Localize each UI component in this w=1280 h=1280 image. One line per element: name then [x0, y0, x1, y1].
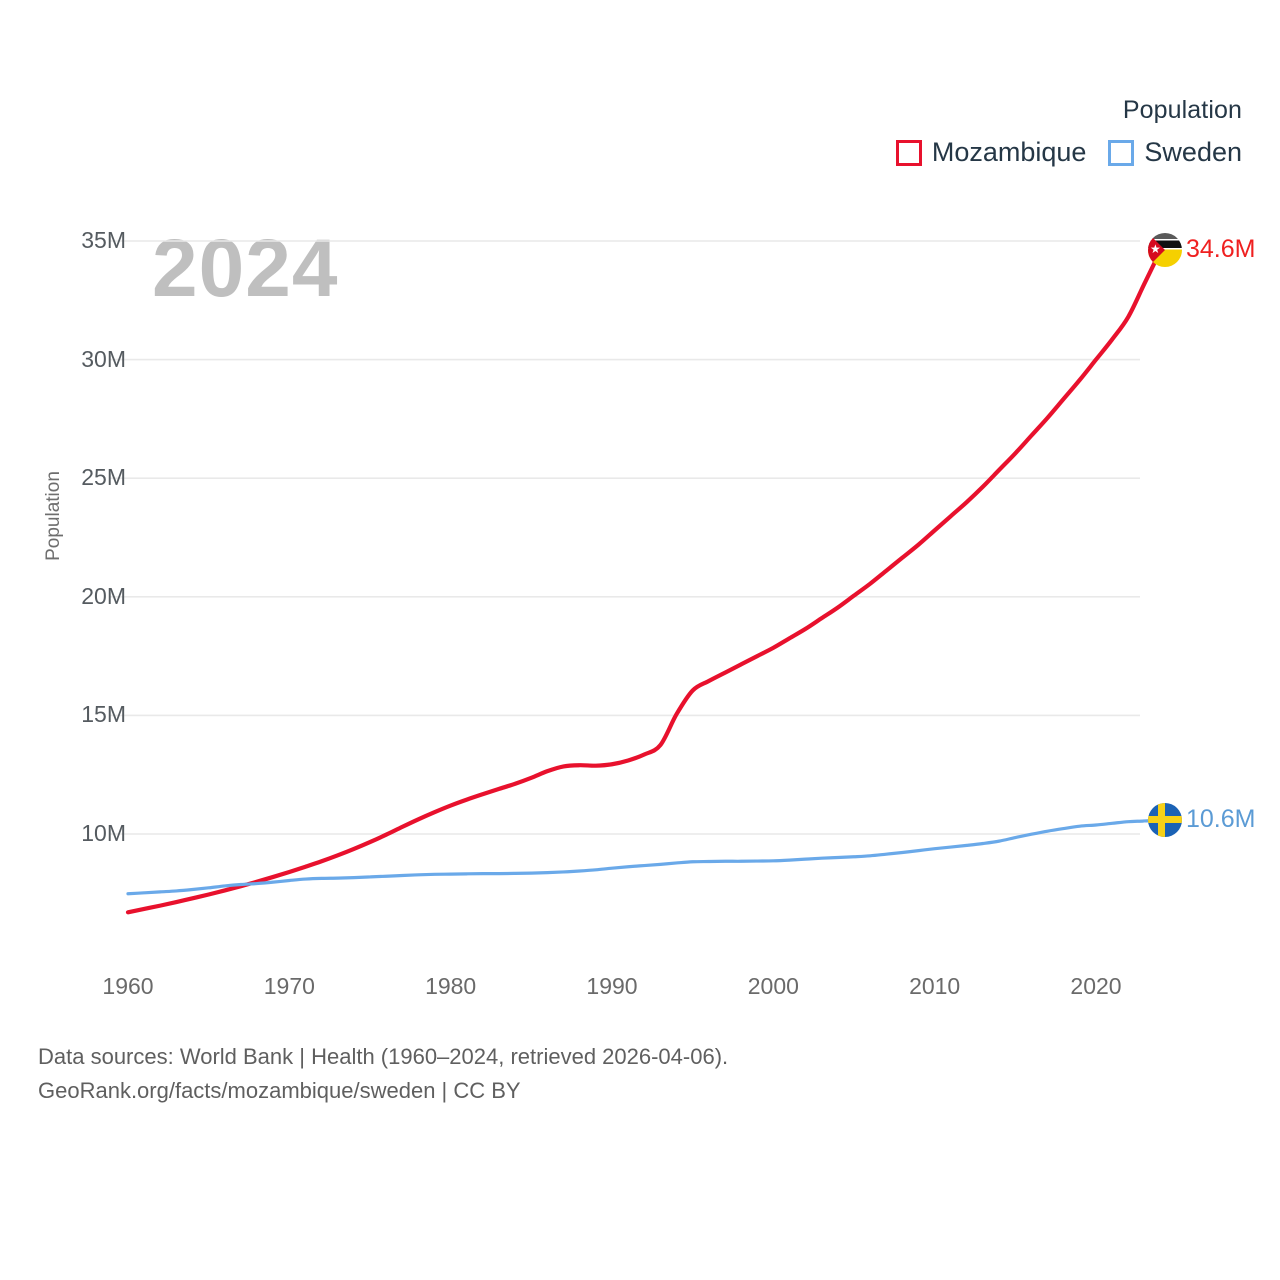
y-axis-tick-label: 30M: [36, 348, 126, 371]
x-axis-tick-label: 2000: [713, 975, 833, 998]
footer-attribution: Data sources: World Bank | Health (1960–…: [38, 1040, 728, 1108]
sweden-flag-icon: [1148, 803, 1182, 837]
x-axis-tick-label: 2020: [1036, 975, 1156, 998]
y-axis-tick-label: 15M: [36, 703, 126, 726]
y-axis-tick-label: 25M: [36, 466, 126, 489]
sweden-flag-cross-vertical: [1158, 803, 1165, 837]
footer-line-2: GeoRank.org/facts/mozambique/sweden | CC…: [38, 1074, 728, 1108]
x-axis-tick-label: 1970: [229, 975, 349, 998]
y-axis-tick-label: 10M: [36, 822, 126, 845]
x-axis-tick-label: 1960: [68, 975, 188, 998]
series-line-mozambique: [128, 250, 1161, 912]
mozambique-flag-star: ★: [1150, 244, 1161, 255]
series-line-sweden: [128, 820, 1161, 894]
x-axis-tick-label: 2010: [875, 975, 995, 998]
footer-line-1: Data sources: World Bank | Health (1960–…: [38, 1040, 728, 1074]
mozambique-end-value: 34.6M: [1186, 237, 1255, 262]
x-axis-tick-label: 1990: [552, 975, 672, 998]
y-axis-tick-label: 35M: [36, 229, 126, 252]
y-axis-tick-label: 20M: [36, 585, 126, 608]
sweden-flag-cross-horizontal: [1148, 816, 1182, 823]
x-axis-tick-label: 1980: [391, 975, 511, 998]
population-line-chart: Population Mozambique Sweden 2024 Popula…: [0, 0, 1280, 1280]
sweden-end-value: 10.6M: [1186, 807, 1255, 832]
